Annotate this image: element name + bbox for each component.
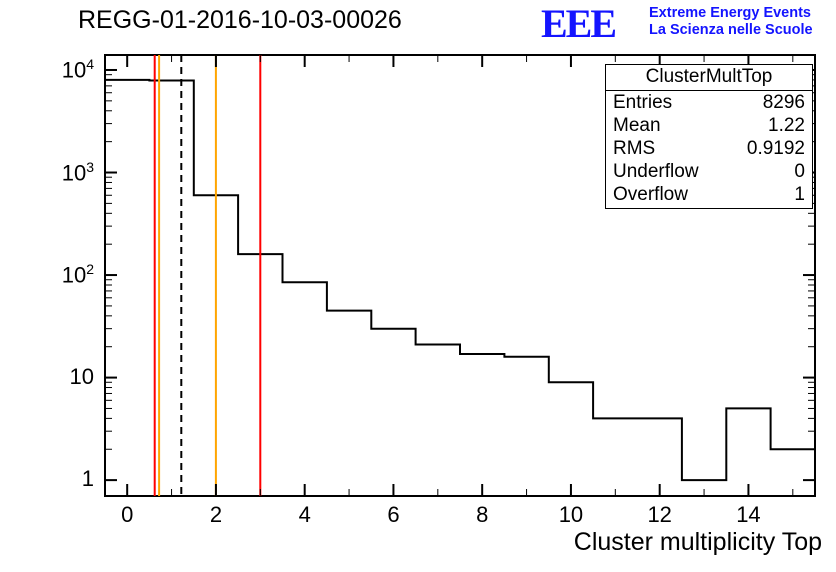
x-tick-label: 6 xyxy=(368,502,418,528)
stats-row-key: Underflow xyxy=(613,160,699,183)
y-tick-label: 103 xyxy=(30,159,94,186)
y-tick-label: 1 xyxy=(30,466,94,492)
x-tick-label: 12 xyxy=(635,502,685,528)
stats-row: Underflow0 xyxy=(606,160,812,183)
stats-row: Entries8296 xyxy=(606,91,812,114)
y-tick-label: 102 xyxy=(30,261,94,288)
stats-row-key: Entries xyxy=(613,91,672,114)
stats-row-value: 1 xyxy=(794,183,805,206)
stats-row-key: Mean xyxy=(613,114,661,137)
stats-row-value: 8296 xyxy=(763,91,805,114)
x-axis-title: Cluster multiplicity Top xyxy=(574,528,822,557)
stats-row-value: 0 xyxy=(794,160,805,183)
x-tick-label: 0 xyxy=(102,502,152,528)
stats-title: ClusterMultTop xyxy=(606,65,812,91)
stats-row: Mean1.22 xyxy=(606,114,812,137)
y-tick-label: 10 xyxy=(30,364,94,390)
x-tick-label: 4 xyxy=(280,502,330,528)
stats-row-value: 1.22 xyxy=(768,114,805,137)
stats-row-key: Overflow xyxy=(613,183,688,206)
x-tick-label: 8 xyxy=(457,502,507,528)
x-tick-label: 14 xyxy=(723,502,773,528)
y-tick-label: 104 xyxy=(30,56,94,83)
stats-box: ClusterMultTop Entries8296Mean1.22RMS0.9… xyxy=(605,64,813,209)
stats-row: RMS0.9192 xyxy=(606,137,812,160)
stats-row: Overflow1 xyxy=(606,183,812,206)
x-tick-label: 2 xyxy=(191,502,241,528)
x-tick-label: 10 xyxy=(546,502,596,528)
stats-row-value: 0.9192 xyxy=(747,137,805,160)
stats-row-key: RMS xyxy=(613,137,655,160)
